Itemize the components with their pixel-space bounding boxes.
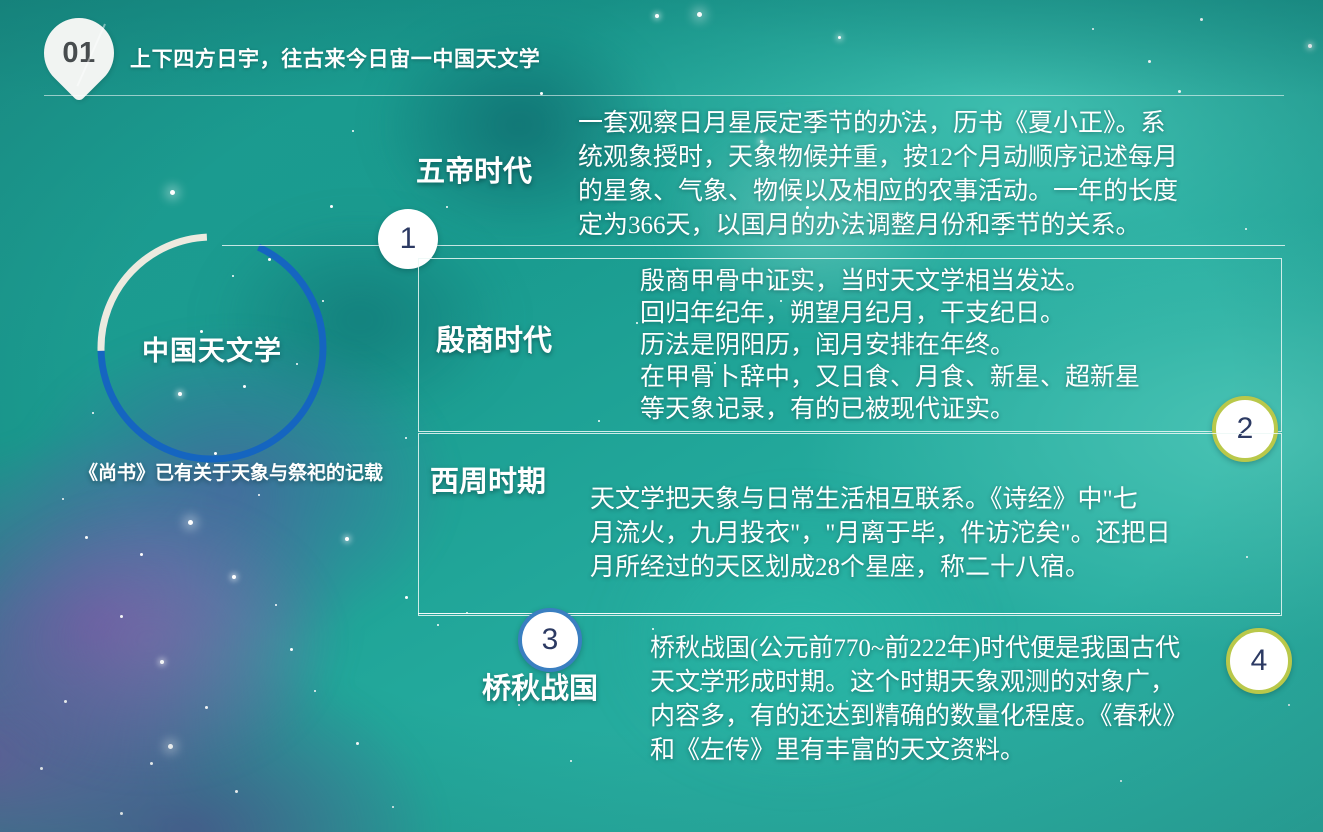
timeline-item-4-body: 桥秋战国(公元前770~前222年)时代便是我国古代 天文学形成时期。这个时期天… (650, 632, 1188, 768)
timeline-item-4-line-4: 和《左传》里有丰富的天文资料。 (650, 734, 1188, 768)
timeline-item-1-line-3: 的星象、气象、物候以及相应的农事活动。一年的长度 (578, 175, 1178, 209)
timeline-item-2-line-3: 历法是阴阳历，闰月安排在年终。 (640, 330, 1140, 362)
center-ring-label: 中国天文学 (92, 228, 332, 468)
timeline-item-4-title: 桥秋战国 (482, 665, 598, 707)
center-ring-caption: 《尚书》已有关于天象与祭祀的记载 (36, 458, 426, 485)
timeline-item-3-title: 西周时期 (430, 458, 546, 500)
timeline-item-1-line-2: 统观象授时，天象物候并重，按12个月动顺序记述每月 (578, 141, 1178, 175)
timeline-item-2-line-1: 殷商甲骨中证实，当时天文学相当发达。 (640, 266, 1140, 298)
timeline-item-2-title: 殷商时代 (436, 317, 552, 359)
timeline-item-1-body: 一套观察日月星辰定季节的办法，历书《夏小正》。系 统观象授时，天象物候并重，按1… (578, 107, 1178, 243)
timeline-item-3-body: 天文学把天象与日常生活相互联系。《诗经》中"七 月流火，九月投衣"，"月离于毕，… (590, 483, 1171, 585)
timeline-item-2-line-5: 等天象记录，有的已被现代证实。 (640, 394, 1140, 426)
header-divider (44, 95, 1284, 96)
timeline-item-1-line-4: 定为366天，以国月的办法调整月份和季节的关系。 (578, 209, 1178, 243)
timeline-item-1-line-1: 一套观察日月星辰定季节的办法，历书《夏小正》。系 (578, 107, 1178, 141)
connector-line-1a (222, 245, 390, 246)
timeline-item-4-line-3: 内容多，有的还达到精确的数量化程度。《春秋》 (650, 700, 1188, 734)
timeline-item-3-line-3: 月所经过的天区划成28个星座，称二十八宿。 (590, 551, 1171, 585)
timeline-badge-4[interactable]: 4 (1226, 628, 1292, 694)
timeline-item-1-title: 五帝时代 (416, 148, 532, 190)
timeline-badge-3[interactable]: 3 (518, 608, 582, 672)
connector-line-1b (425, 245, 1285, 246)
timeline-item-3-line-2: 月流火，九月投衣"，"月离于毕，件访沱矣"。还把日 (590, 517, 1171, 551)
timeline-item-4-line-2: 天文学形成时期。这个时期天象观测的对象广， (650, 666, 1188, 700)
timeline-item-2-body: 殷商甲骨中证实，当时天文学相当发达。 回归年纪年，朔望月纪月，干支纪日。 历法是… (640, 266, 1140, 426)
slide-canvas: 01 上下四方日宇，往古来今日宙一中国天文学 中国天文学 《尚书》已有关于天象与… (0, 0, 1323, 832)
timeline-item-3-line-1: 天文学把天象与日常生活相互联系。《诗经》中"七 (590, 483, 1171, 517)
timeline-item-2-line-2: 回归年纪年，朔望月纪月，干支纪日。 (640, 298, 1140, 330)
slide-header: 01 上下四方日宇，往古来今日宙一中国天文学 (0, 0, 1323, 100)
page-title: 上下四方日宇，往古来今日宙一中国天文学 (130, 43, 540, 73)
timeline-item-4-line-1: 桥秋战国(公元前770~前222年)时代便是我国古代 (650, 632, 1188, 666)
timeline-item-2-line-4: 在甲骨卜辞中，又日食、月食、新星、超新星 (640, 362, 1140, 394)
